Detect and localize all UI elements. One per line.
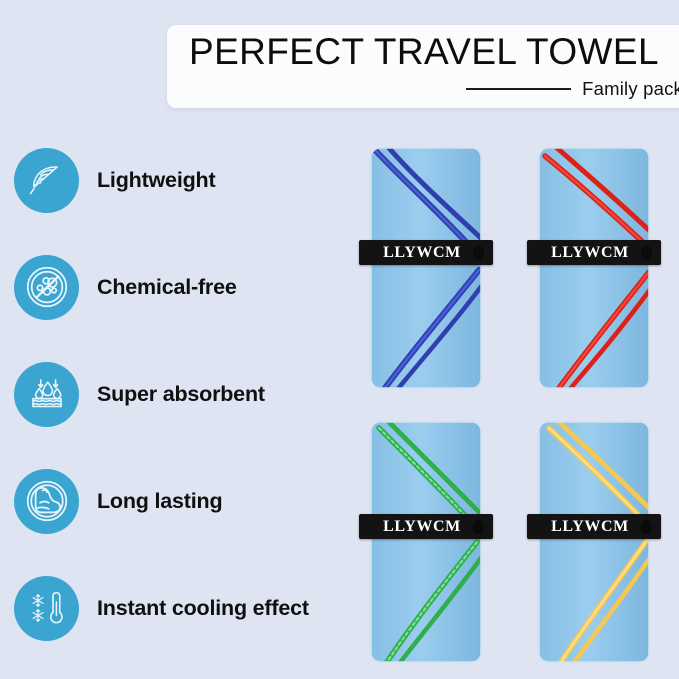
product-cell-yellow: LLYWCM <box>513 414 675 670</box>
towel-red: LLYWCM <box>535 144 653 392</box>
towel-yellow: LLYWCM <box>535 418 653 666</box>
towel-green-image <box>367 418 485 666</box>
feature-label: Lightweight <box>97 168 215 193</box>
feature-label: Chemical-free <box>97 275 237 300</box>
towel-blue: LLYWCM <box>367 144 485 392</box>
feature-label: Super absorbent <box>97 382 265 407</box>
towel-yellow-image <box>535 418 653 666</box>
flexed-bicep-icon <box>14 469 79 534</box>
subtitle-divider <box>466 88 571 90</box>
subtitle-text: Family pack <box>582 78 679 100</box>
band-buckle-icon <box>473 245 484 260</box>
band-buckle-icon <box>473 519 484 534</box>
water-drops-icon <box>14 362 79 427</box>
feature-item-chemical-free: Chemical-free <box>14 253 344 321</box>
feature-label: Instant cooling effect <box>97 596 309 621</box>
band-buckle-icon <box>641 519 652 534</box>
brand-band: LLYWCM <box>359 240 493 265</box>
brand-band: LLYWCM <box>359 514 493 539</box>
towel-red-image <box>535 144 653 392</box>
product-grid: LLYWCM <box>345 140 675 670</box>
brand-band: LLYWCM <box>527 514 661 539</box>
towel-blue-image <box>367 144 485 392</box>
subtitle-row: Family pack <box>466 78 679 100</box>
brand-label: LLYWCM <box>551 244 629 262</box>
product-cell-red: LLYWCM <box>513 140 675 396</box>
product-cell-green: LLYWCM <box>345 414 507 670</box>
brand-band: LLYWCM <box>527 240 661 265</box>
feature-item-instant-cooling: Instant cooling effect <box>14 574 344 642</box>
product-infographic: PERFECT TRAVEL TOWEL Family pack <box>0 0 679 679</box>
header-banner: PERFECT TRAVEL TOWEL Family pack <box>167 25 679 108</box>
feature-item-lightweight: Lightweight <box>14 146 344 214</box>
product-cell-blue: LLYWCM <box>345 140 507 396</box>
brand-label: LLYWCM <box>383 244 461 262</box>
brand-label: LLYWCM <box>551 518 629 536</box>
feather-icon <box>14 148 79 213</box>
brand-label: LLYWCM <box>383 518 461 536</box>
snowflake-thermometer-icon <box>14 576 79 641</box>
feature-label: Long lasting <box>97 489 222 514</box>
no-chemicals-icon <box>14 255 79 320</box>
feature-item-long-lasting: Long lasting <box>14 467 344 535</box>
band-buckle-icon <box>641 245 652 260</box>
page-title: PERFECT TRAVEL TOWEL <box>189 31 659 73</box>
towel-green: LLYWCM <box>367 418 485 666</box>
feature-item-super-absorbent: Super absorbent <box>14 360 344 428</box>
feature-list: Lightweight Chemical <box>14 146 344 642</box>
